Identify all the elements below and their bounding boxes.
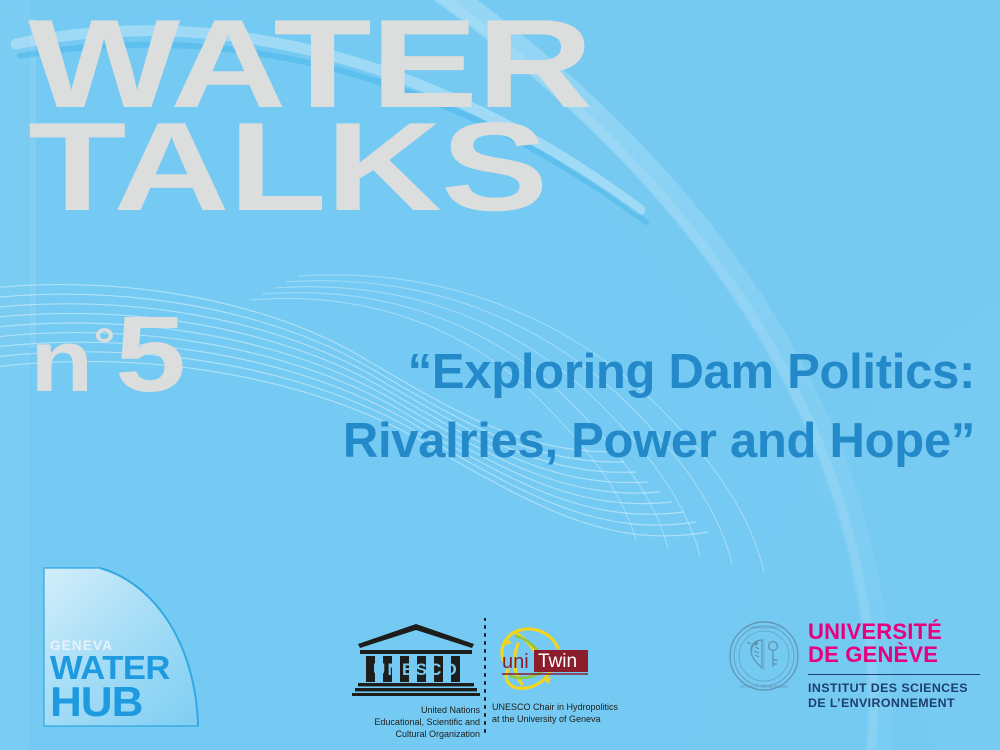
talk-title-line-2: Rivalries, Power and Hope” bbox=[200, 407, 975, 476]
edition-number: n°5 bbox=[30, 300, 186, 408]
unesco-caption-line-3: Cultural Organization bbox=[352, 729, 480, 741]
universite-de-geneve-logo: · UNIVERSITAS · · SCHOLA · GENEVENSIS · … bbox=[728, 612, 978, 737]
edition-value: 5 bbox=[115, 293, 186, 414]
unesco-temple-icon: UNESCO bbox=[352, 622, 480, 696]
unitwin-logo: uni Twin UNESCO Chair in Hydropolitics a… bbox=[492, 622, 632, 726]
brand-wordmark: WATER TALKS bbox=[28, 14, 688, 218]
unitwin-caption-line-1: UNESCO Chair in Hydropolitics bbox=[492, 702, 632, 714]
unesco-caption: United Nations Educational, Scientific a… bbox=[352, 705, 480, 741]
unesco-logo: UNESCO United Nations Educational, Scien… bbox=[352, 622, 480, 741]
unitwin-caption-line-2: at the University of Geneva bbox=[492, 714, 632, 726]
unige-seal-icon: · UNIVERSITAS · · SCHOLA · GENEVENSIS · bbox=[728, 620, 800, 692]
unitwin-caption: UNESCO Chair in Hydropolitics at the Uni… bbox=[492, 702, 632, 726]
water-talks-poster: WATER TALKS n°5 “Exploring Dam Politics:… bbox=[0, 0, 1000, 750]
svg-text:· UNIVERSITAS ·: · UNIVERSITAS · bbox=[748, 625, 781, 630]
unige-name-line-1: UNIVERSITÉ bbox=[808, 620, 980, 643]
talk-title-line-1: “Exploring Dam Politics: bbox=[200, 338, 975, 407]
unige-divider-rule bbox=[808, 674, 980, 676]
unesco-caption-line-1: United Nations bbox=[352, 705, 480, 717]
geneva-water-hub-wordmark: GENEVA WATER HUB bbox=[50, 639, 164, 722]
unige-institute-line-1: INSTITUT DES SCIENCES bbox=[808, 681, 980, 696]
unesco-caption-line-2: Educational, Scientific and bbox=[352, 717, 480, 729]
unitwin-twin-text: Twin bbox=[538, 651, 577, 672]
svg-text:· SCHOLA · GENEVENSIS ·: · SCHOLA · GENEVENSIS · bbox=[737, 684, 790, 689]
edition-prefix: n bbox=[30, 311, 93, 410]
unige-wordmark: UNIVERSITÉ DE GENÈVE INSTITUT DES SCIENC… bbox=[808, 620, 980, 711]
talk-title: “Exploring Dam Politics: Rivalries, Powe… bbox=[200, 338, 975, 475]
svg-text:UNESCO: UNESCO bbox=[373, 660, 459, 679]
gwh-hub-label: HUB bbox=[50, 683, 170, 722]
unige-institute: INSTITUT DES SCIENCES DE L’ENVIRONNEMENT bbox=[808, 681, 980, 711]
unitwin-globe-icon: uni Twin bbox=[492, 622, 632, 692]
unige-name: UNIVERSITÉ DE GENÈVE bbox=[808, 620, 980, 667]
logo-divider bbox=[484, 618, 486, 736]
unitwin-uni-text: uni bbox=[502, 651, 529, 673]
edition-degree-sign: ° bbox=[93, 319, 115, 371]
unige-institute-line-2: DE L’ENVIRONNEMENT bbox=[808, 696, 980, 711]
geneva-water-hub-logo: GENEVA WATER HUB bbox=[38, 562, 210, 732]
brand-line-talks: TALKS bbox=[28, 117, 873, 218]
unige-name-line-2: DE GENÈVE bbox=[808, 643, 980, 666]
